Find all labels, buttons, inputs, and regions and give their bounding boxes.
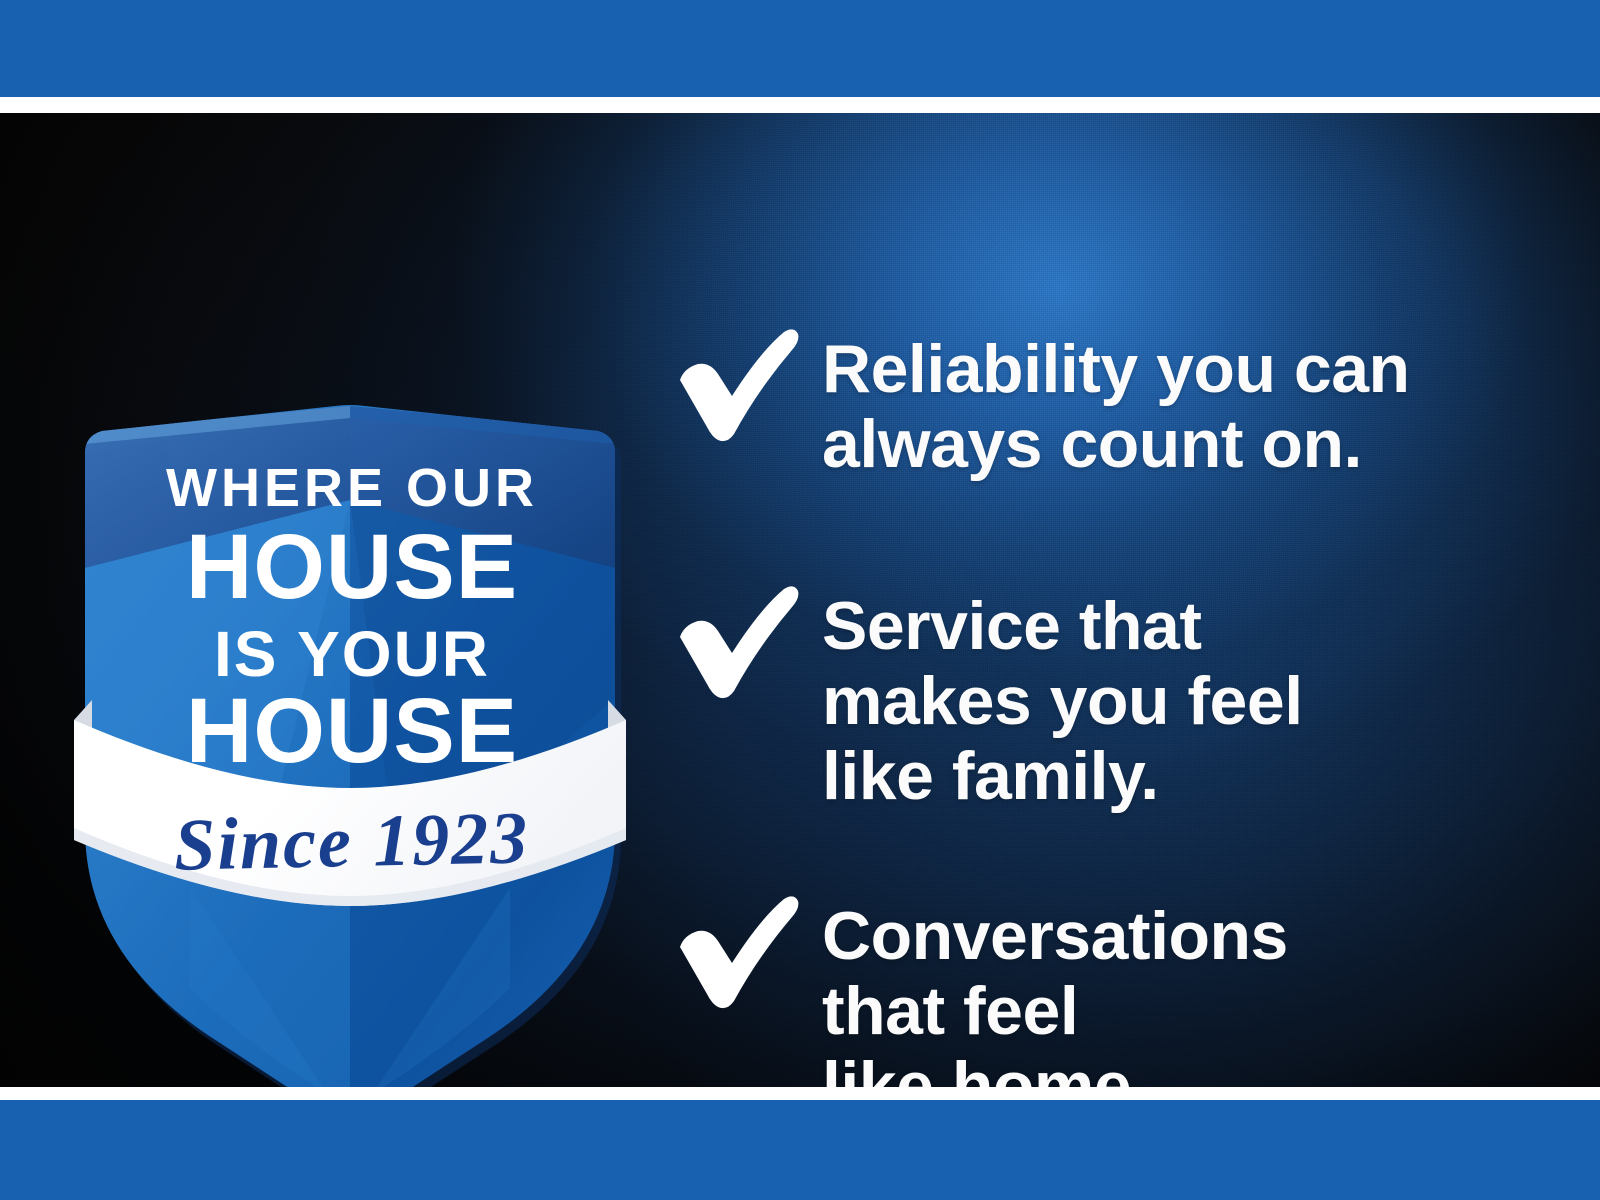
benefits-list: Reliability you can always count on. Ser…: [672, 226, 1532, 1087]
list-item: Service that makes you feel like family.: [672, 581, 1303, 813]
bottom-brand-bar: [0, 1100, 1600, 1200]
list-item-text: Reliability you can always count on.: [822, 324, 1410, 482]
list-item: Conversations that feel like home.: [672, 891, 1288, 1087]
top-white-divider: [0, 97, 1600, 113]
list-item: Reliability you can always count on.: [672, 324, 1410, 482]
checkmark-icon: [672, 324, 800, 444]
bottom-white-divider: [0, 1087, 1600, 1100]
logo-line-4: HOUSE: [186, 680, 518, 782]
checkmark-icon: [672, 891, 800, 1011]
logo-line-2: HOUSE: [186, 516, 518, 618]
content-stage: WHERE OUR HOUSE IS YOUR HOUSE Since 1923: [0, 113, 1600, 1087]
top-brand-bar: [0, 0, 1600, 97]
logo-line-1: WHERE OUR: [166, 458, 538, 518]
since-year-text: Since 1923: [173, 797, 530, 886]
checkmark-icon: [672, 581, 800, 701]
shield-logo: WHERE OUR HOUSE IS YOUR HOUSE Since 1923: [70, 268, 630, 1068]
list-item-text: Conversations that feel like home.: [822, 891, 1288, 1087]
list-item-text: Service that makes you feel like family.: [822, 581, 1303, 813]
promo-graphic: WHERE OUR HOUSE IS YOUR HOUSE Since 1923: [0, 0, 1600, 1200]
